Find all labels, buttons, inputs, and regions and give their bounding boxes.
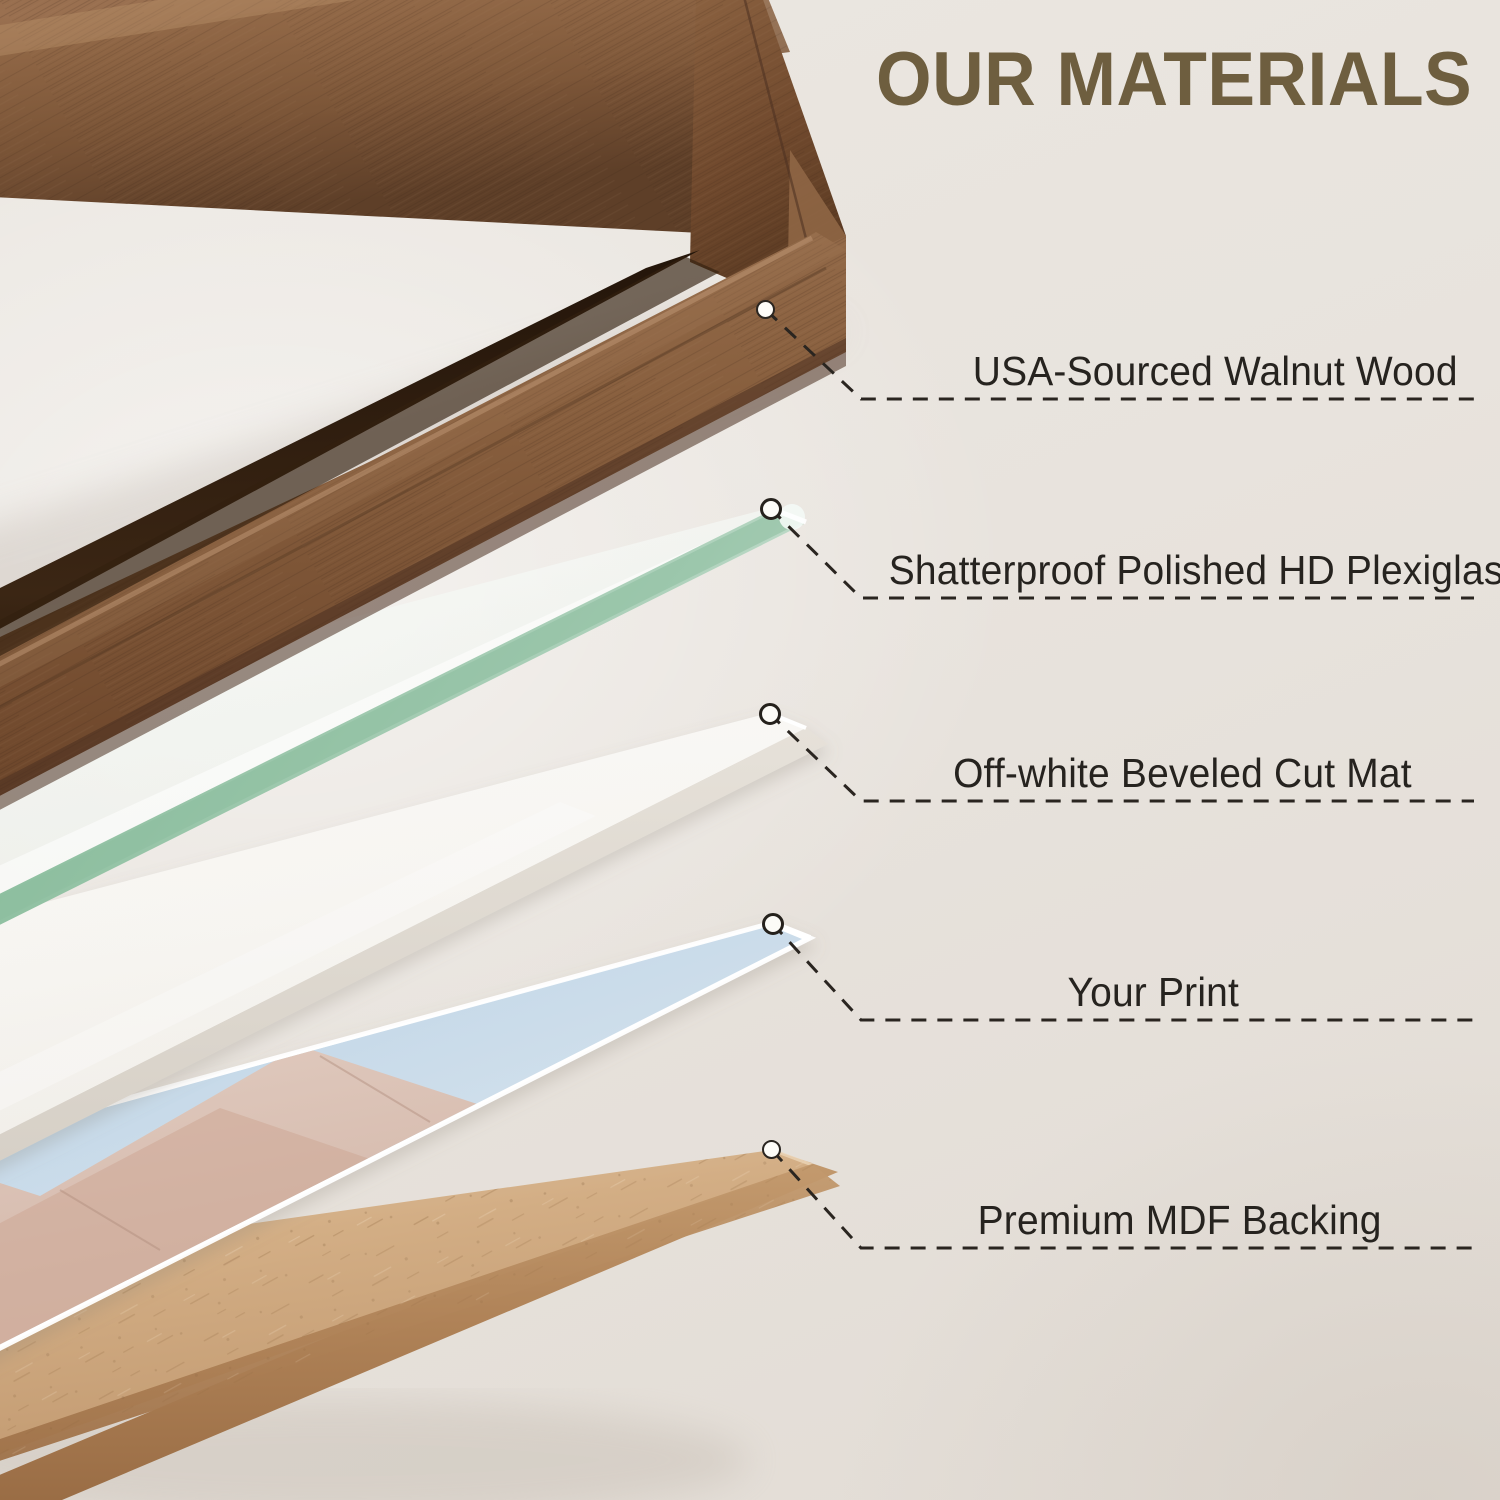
infographic-canvas: OUR MATERIALS USA-Sourced Walnut Wood Sh… (0, 0, 1500, 1500)
callout-label-mdf-backing: Premium MDF Backing (978, 1197, 1382, 1244)
leader-line-mdf-backing (0, 0, 1500, 1500)
marker-dot-mdf-backing[interactable] (762, 1140, 781, 1159)
